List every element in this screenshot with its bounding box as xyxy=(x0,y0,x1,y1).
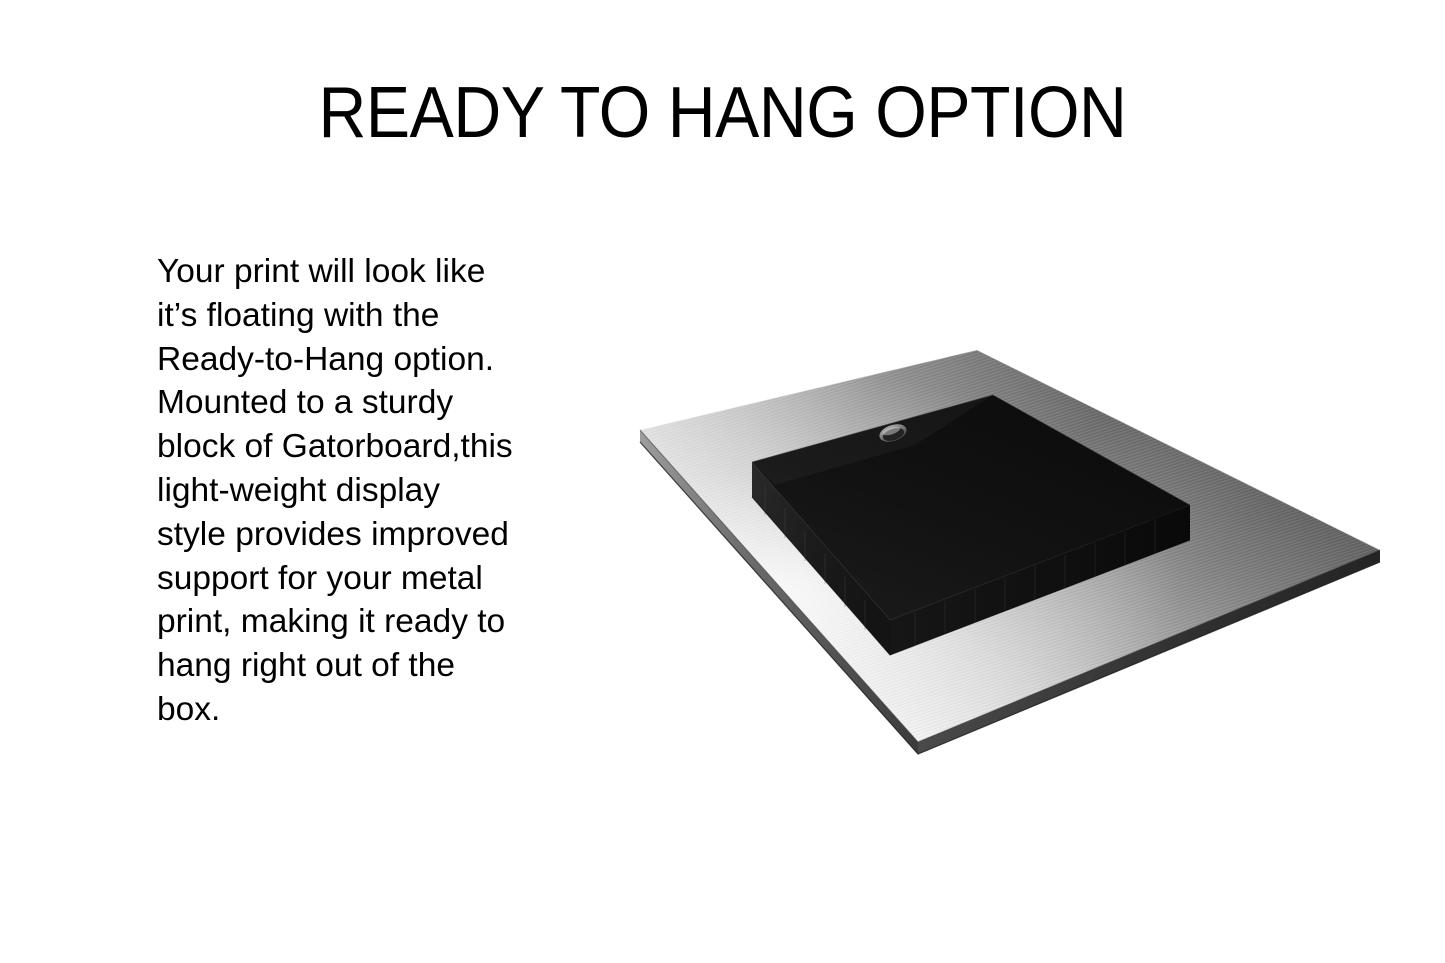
page-title: READY TO HANG OPTION xyxy=(58,74,1387,152)
product-image xyxy=(615,325,1405,765)
description-paragraph: Your print will look like it’s floating … xyxy=(157,250,557,732)
product-illustration xyxy=(615,325,1405,765)
